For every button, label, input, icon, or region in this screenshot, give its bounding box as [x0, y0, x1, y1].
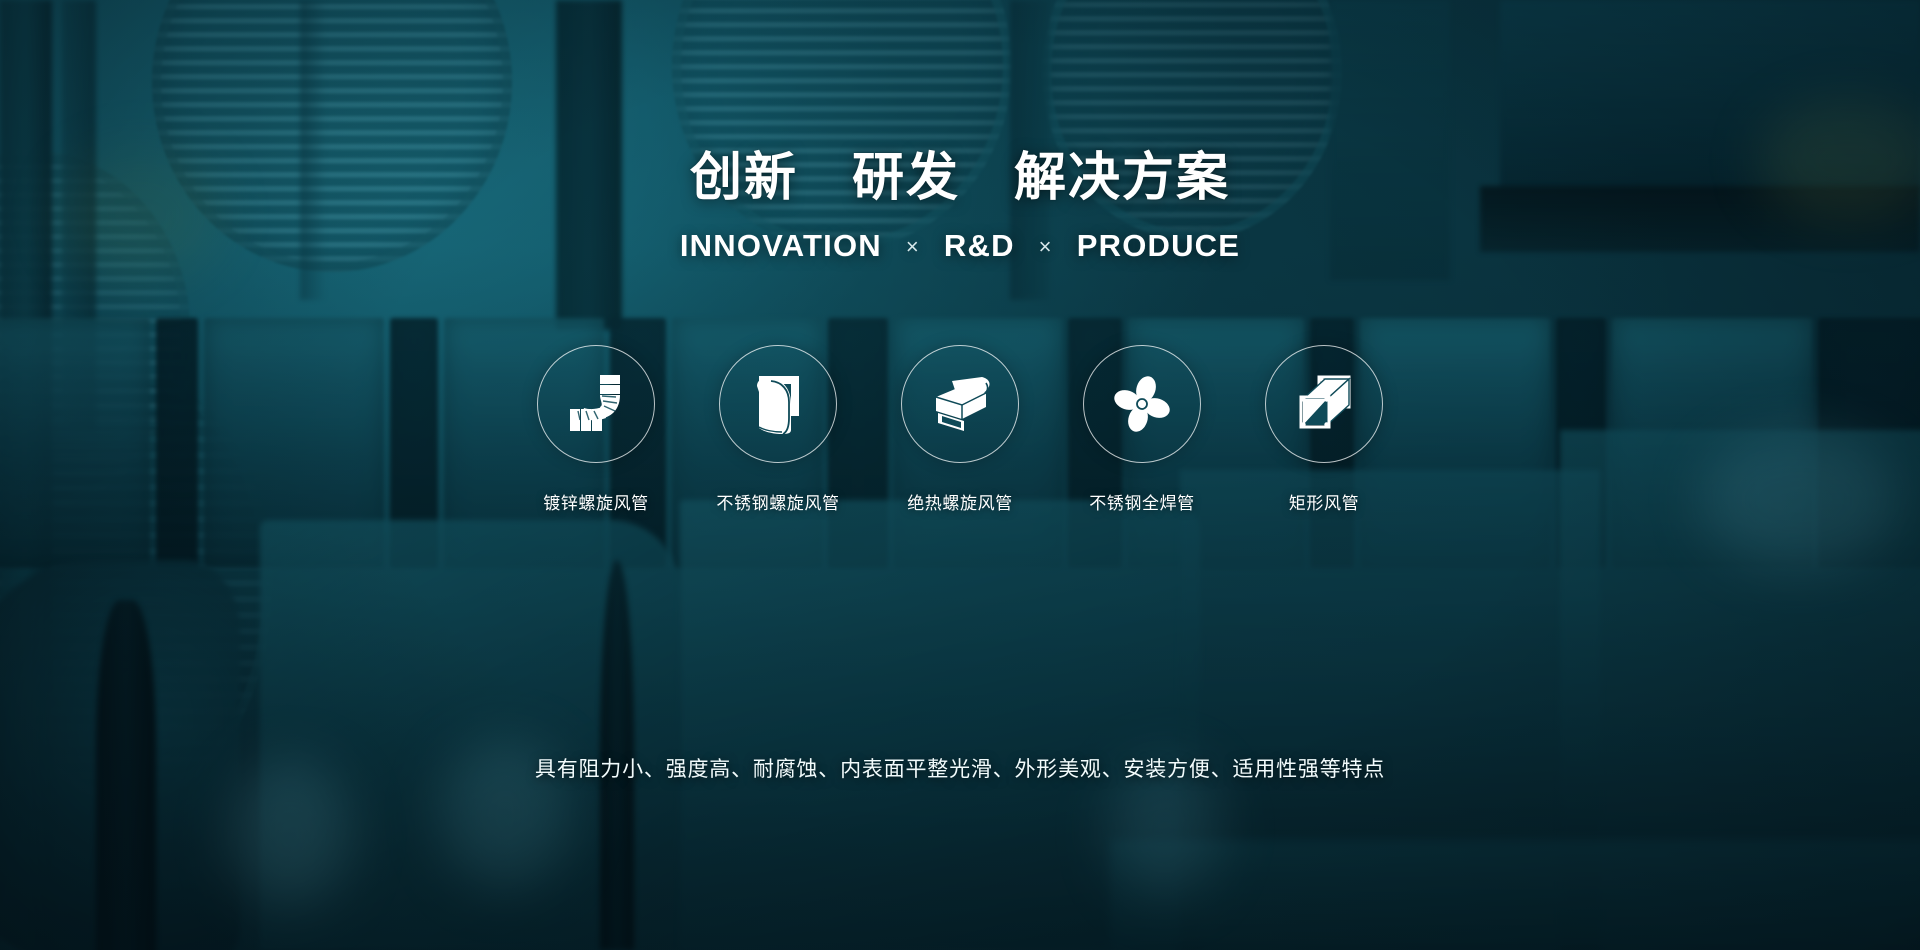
product-label: 不锈钢螺旋风管: [716, 489, 839, 514]
subtitle-part-innovation: INNOVATION: [680, 230, 882, 261]
product-label: 不锈钢全焊管: [1089, 489, 1195, 514]
insulated-spiral-duct-icon: [926, 375, 994, 433]
subtitle-english: INNOVATION × R&D × PRODUCE: [680, 230, 1240, 261]
product-label: 矩形风管: [1289, 489, 1359, 514]
product-item-rectangular-duct[interactable]: 矩形风管: [1233, 345, 1415, 514]
product-icon-row: 镀锌螺旋风管 不锈钢螺旋风管: [505, 345, 1415, 514]
stainless-spiral-duct-bend-icon: [749, 372, 807, 436]
product-label: 镀锌螺旋风管: [543, 489, 649, 514]
product-item-stainless-welded-pipe[interactable]: 不锈钢全焊管: [1051, 345, 1233, 514]
galvanized-spiral-duct-elbow-icon: [564, 373, 628, 435]
product-item-galvanized-spiral-duct[interactable]: 镀锌螺旋风管: [505, 345, 687, 514]
subtitle-part-produce: PRODUCE: [1077, 230, 1240, 261]
headline-chinese: 创新 研发 解决方案: [690, 152, 1230, 204]
four-blade-fan-icon: [1112, 374, 1172, 434]
icon-circle: [719, 345, 837, 463]
icon-circle: [1083, 345, 1201, 463]
product-item-insulated-spiral-duct[interactable]: 绝热螺旋风管: [869, 345, 1051, 514]
banner-content: 创新 研发 解决方案 INNOVATION × R&D × PRODUCE: [0, 0, 1920, 950]
subtitle-part-rd: R&D: [944, 230, 1015, 261]
subtitle-separator-icon: ×: [1037, 236, 1055, 258]
hero-banner: 创新 研发 解决方案 INNOVATION × R&D × PRODUCE: [0, 0, 1920, 950]
icon-circle: [537, 345, 655, 463]
product-item-stainless-spiral-duct[interactable]: 不锈钢螺旋风管: [687, 345, 869, 514]
subtitle-separator-icon: ×: [904, 236, 922, 258]
rectangular-duct-icon: [1293, 373, 1355, 435]
icon-circle: [901, 345, 1019, 463]
feature-tagline: 具有阻力小、强度高、耐腐蚀、内表面平整光滑、外形美观、安装方便、适用性强等特点: [535, 753, 1385, 783]
product-label: 绝热螺旋风管: [907, 489, 1013, 514]
icon-circle: [1265, 345, 1383, 463]
